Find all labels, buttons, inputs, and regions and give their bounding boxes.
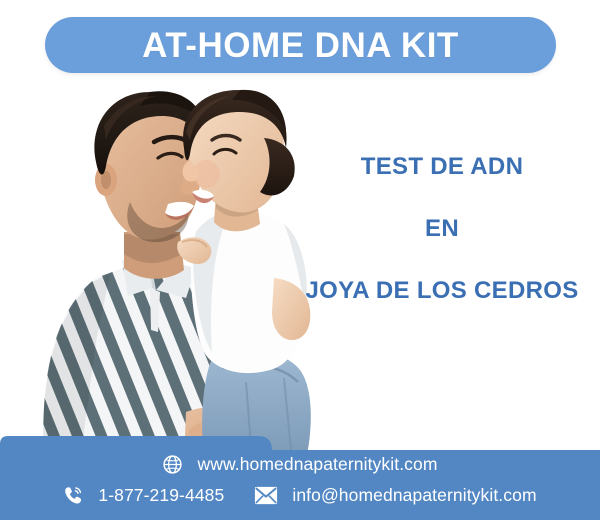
footer-contact-row: 1-877-219-4485 info@homednapaternitykit.… bbox=[0, 485, 600, 506]
header-banner: AT-HOME DNA KIT bbox=[45, 17, 556, 73]
header-title: AT-HOME DNA KIT bbox=[142, 28, 459, 63]
footer-phone-item[interactable]: 1-877-219-4485 bbox=[63, 485, 224, 506]
footer-email-item[interactable]: info@homednapaternitykit.com bbox=[254, 485, 536, 506]
headline-line-service: TEST DE ADN bbox=[296, 155, 588, 179]
envelope-icon bbox=[254, 486, 278, 505]
family-photo bbox=[0, 82, 330, 460]
promo-card: AT-HOME DNA KIT bbox=[0, 0, 600, 520]
headline-line-location: JOYA DE LOS CEDROS bbox=[296, 279, 588, 303]
footer-phone-label: 1-877-219-4485 bbox=[98, 485, 224, 506]
footer-email-label: info@homednapaternitykit.com bbox=[292, 485, 536, 506]
headline-line-preposition: EN bbox=[296, 217, 588, 241]
footer-content: www.homednapaternitykit.com 1-877-219-44… bbox=[0, 430, 600, 520]
globe-icon bbox=[162, 454, 183, 475]
footer-bar: www.homednapaternitykit.com 1-877-219-44… bbox=[0, 430, 600, 520]
headline-block: TEST DE ADN EN JOYA DE LOS CEDROS bbox=[296, 155, 588, 303]
footer-website-item[interactable]: www.homednapaternitykit.com bbox=[162, 454, 437, 475]
phone-icon bbox=[63, 485, 84, 506]
footer-website-row: www.homednapaternitykit.com bbox=[0, 454, 600, 475]
footer-website-label: www.homednapaternitykit.com bbox=[197, 454, 437, 475]
